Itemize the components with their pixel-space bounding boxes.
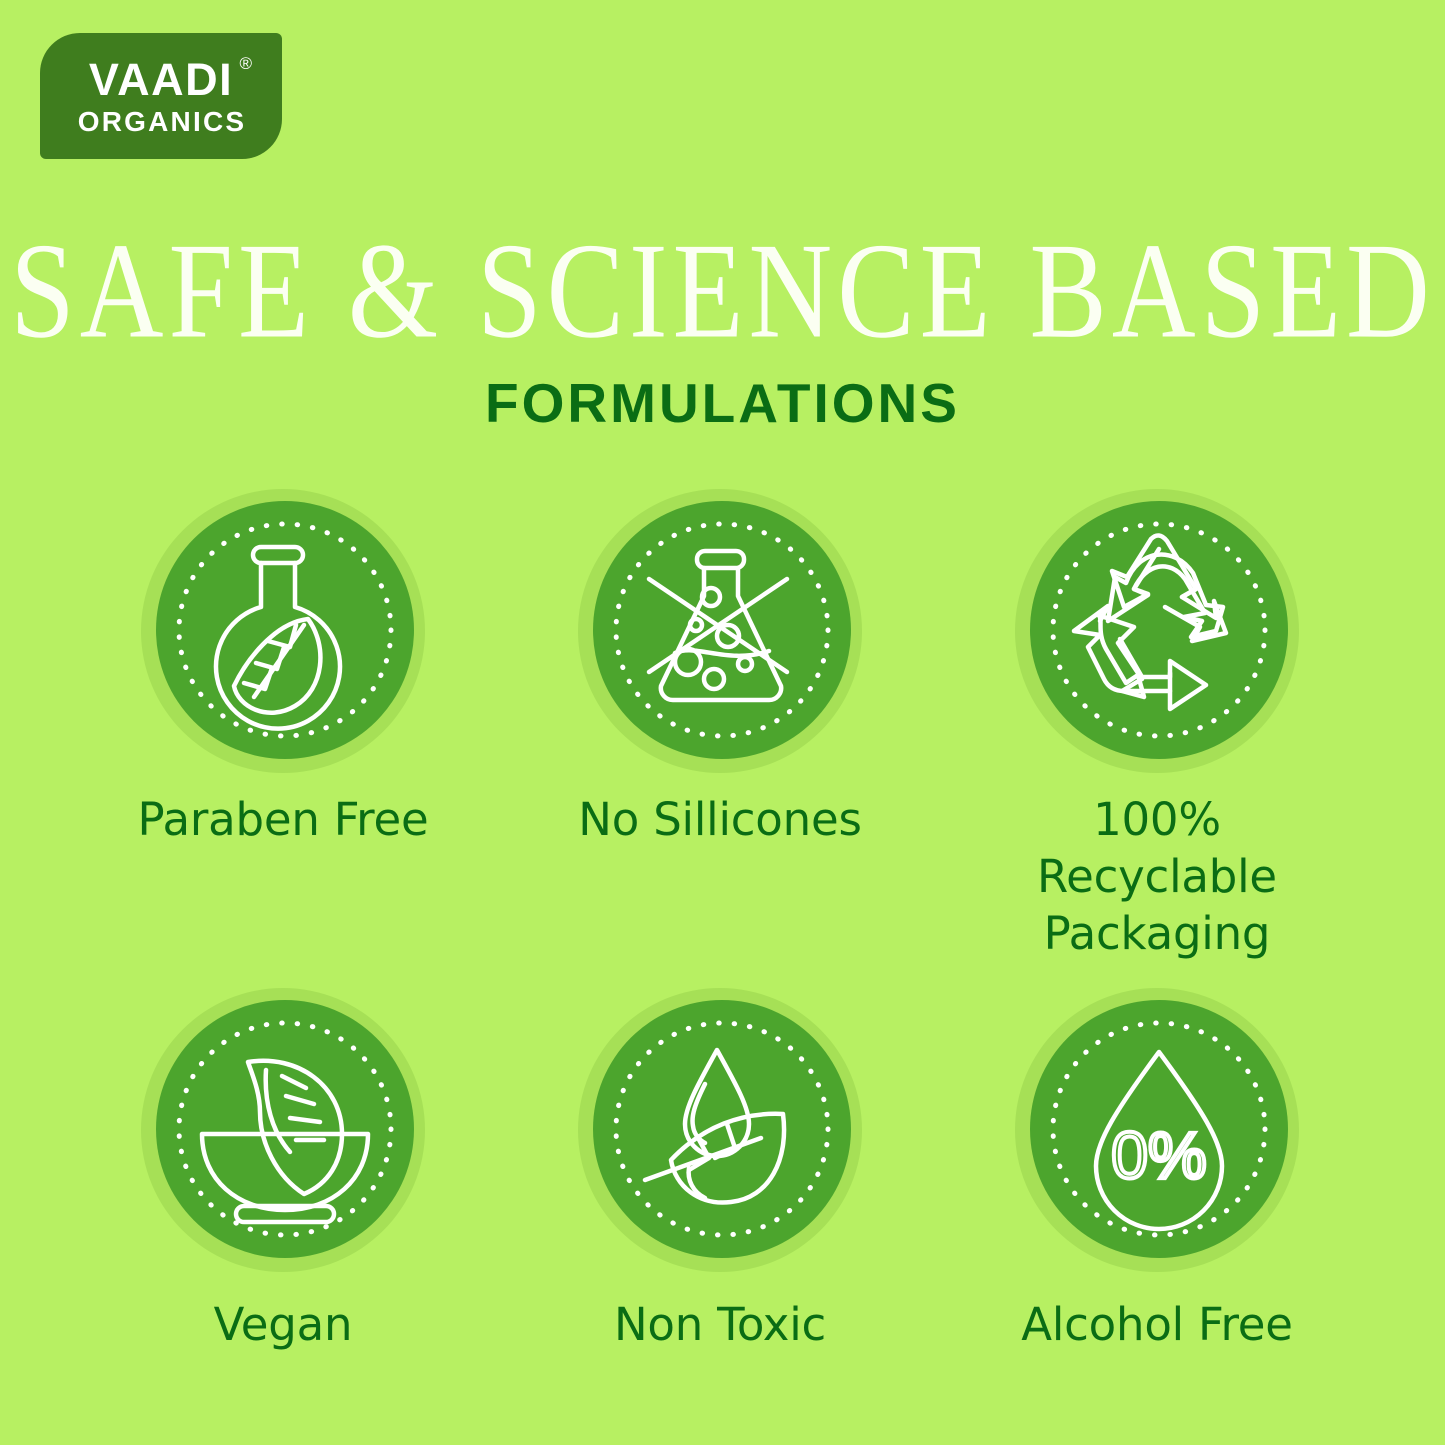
- bowl-with-leaf-icon: [156, 1000, 414, 1258]
- brand-name: VAADI: [89, 54, 233, 105]
- badge-label: No Sillicones: [555, 791, 885, 848]
- brand-logo-inner: VAADI ® ORGANICS: [40, 33, 282, 159]
- promo-poster: VAADI ® ORGANICS SAFE & SCIENCE BASED FO…: [0, 0, 1445, 1445]
- recycle-arrows-icon: [1030, 501, 1288, 759]
- badge-paraben-free: Paraben Free: [118, 489, 448, 848]
- droplet-on-leaf-icon: [593, 1000, 851, 1258]
- brand-tagline: ORGANICS: [78, 106, 247, 138]
- badge-medallion: 0%: [1015, 988, 1299, 1272]
- registered-trademark-icon: ®: [240, 55, 253, 72]
- badge-alcohol-free: 0% Alcohol Free: [992, 988, 1322, 1353]
- brand-name-wrap: VAADI ®: [89, 57, 233, 103]
- badge-label: 100% Recyclable Packaging: [992, 791, 1322, 962]
- droplet-value-text: 0%: [1111, 1118, 1206, 1192]
- badge-no-sillicones: No Sillicones: [555, 489, 885, 848]
- brand-logo: VAADI ® ORGANICS: [40, 33, 282, 159]
- badge-label: Non Toxic: [555, 1296, 885, 1353]
- badge-medallion: [578, 988, 862, 1272]
- badge-vegan: Vegan: [118, 988, 448, 1353]
- badge-recyclable-packaging: 100% Recyclable Packaging: [992, 489, 1322, 962]
- badge-label: Paraben Free: [118, 791, 448, 848]
- badge-label: Alcohol Free: [992, 1296, 1322, 1353]
- crossed-out-flask-icon: [593, 501, 851, 759]
- badge-label: Vegan: [118, 1296, 448, 1353]
- badge-label-line: 100% Recyclable: [992, 791, 1322, 905]
- droplet-zero-percent-icon: 0%: [1030, 1000, 1288, 1258]
- badge-medallion: [1015, 489, 1299, 773]
- badge-label-line: Packaging: [992, 905, 1322, 962]
- flask-with-leaf-icon: [156, 501, 414, 759]
- badge-non-toxic: Non Toxic: [555, 988, 885, 1353]
- badge-medallion: [578, 489, 862, 773]
- page-title: SAFE & SCIENCE BASED: [0, 222, 1445, 361]
- page-subtitle: FORMULATIONS: [0, 374, 1445, 432]
- badge-medallion: [141, 988, 425, 1272]
- badge-medallion: [141, 489, 425, 773]
